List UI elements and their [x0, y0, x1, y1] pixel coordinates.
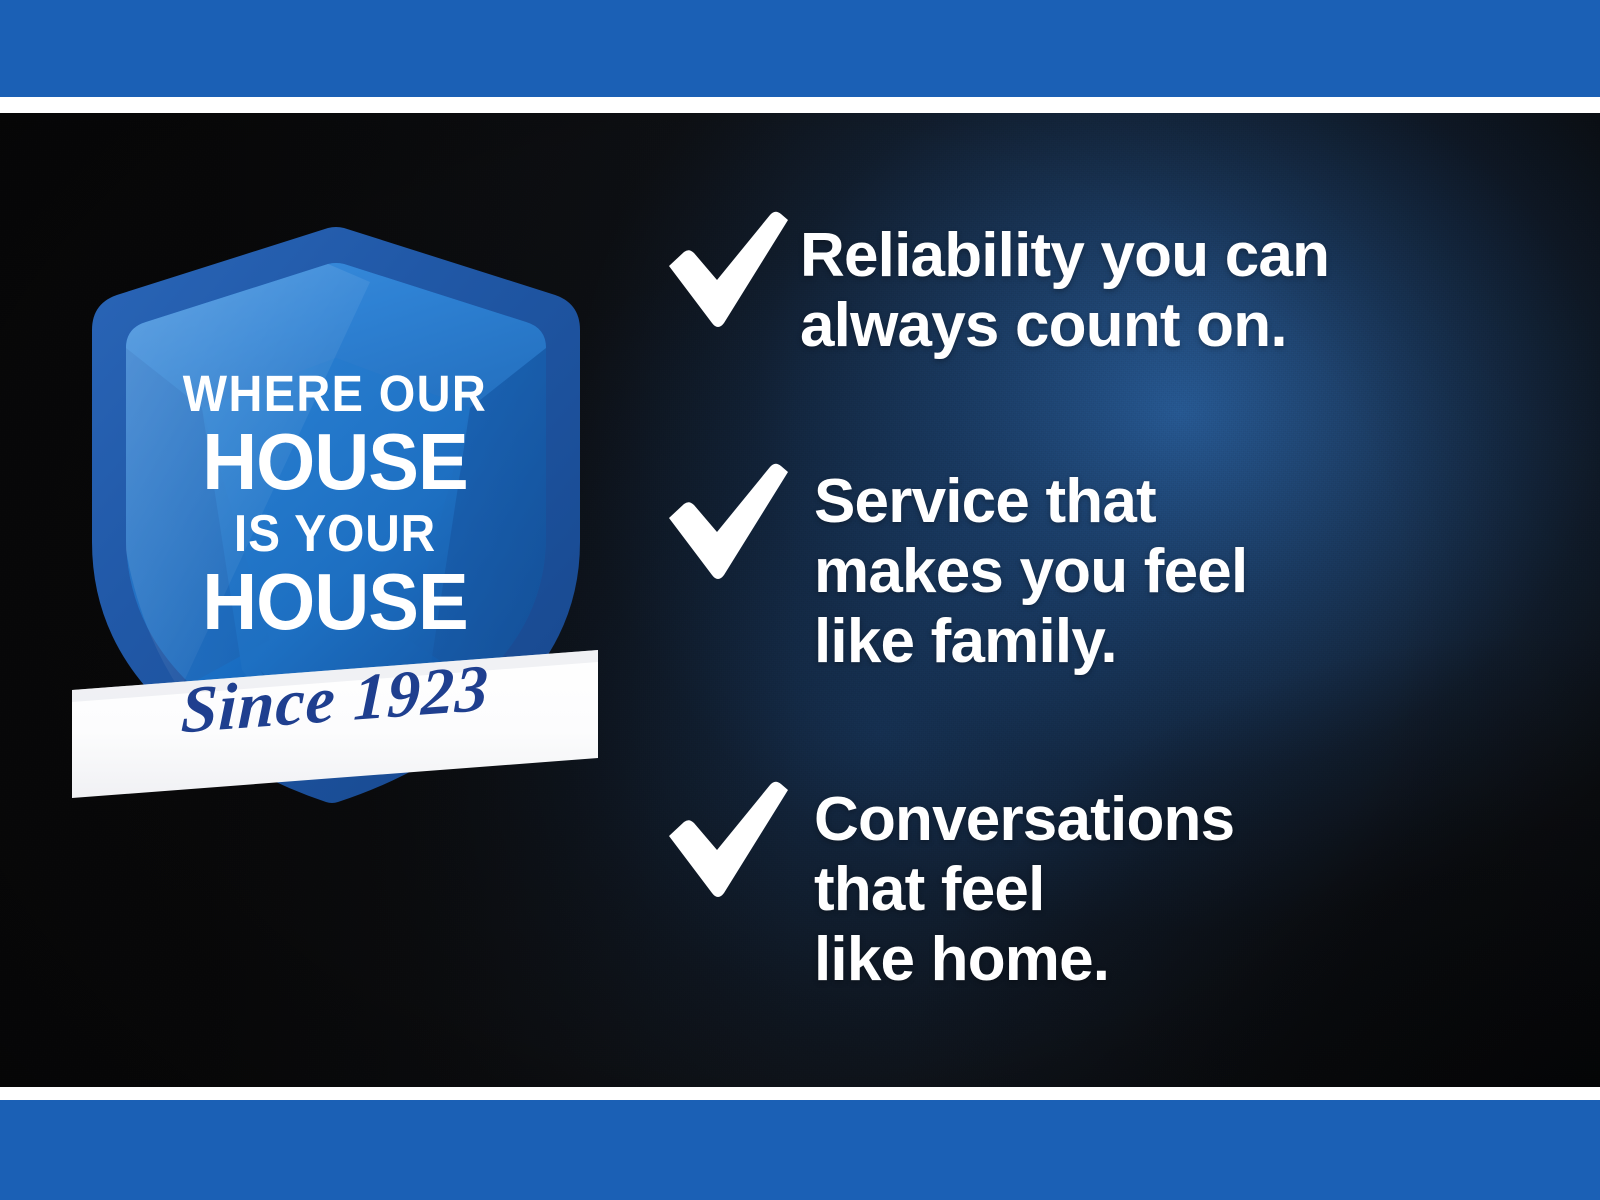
bottom-brand-bar: [0, 1100, 1600, 1200]
benefits-list: Reliability you can always count on. Ser…: [662, 113, 1562, 1087]
benefit-item-reliability: Reliability you can always count on.: [662, 211, 1329, 361]
promo-graphic: WHERE OUR HOUSE IS YOUR HOUSE Since 1923…: [0, 0, 1600, 1200]
top-brand-bar: [0, 0, 1600, 97]
benefit-text-reliability: Reliability you can always count on.: [800, 211, 1329, 361]
benefit-item-service: Service that makes you feel like family.: [662, 463, 1247, 677]
benefit-text-service: Service that makes you feel like family.: [814, 463, 1247, 677]
shield-badge: WHERE OUR HOUSE IS YOUR HOUSE Since 1923: [70, 170, 600, 810]
benefit-item-conversations: Conversations that feel like home.: [662, 781, 1234, 995]
checkmark-icon: [662, 781, 790, 899]
checkmark-icon: [662, 211, 790, 329]
benefit-text-conversations: Conversations that feel like home.: [814, 781, 1234, 995]
checkmark-icon: [662, 463, 790, 581]
